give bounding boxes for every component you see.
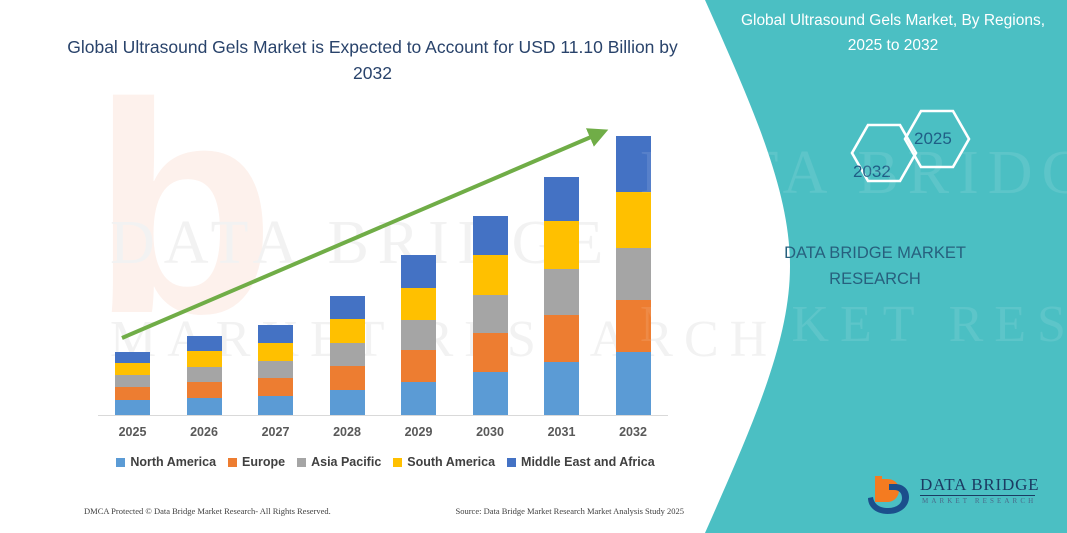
logo-mark-icon: [865, 472, 917, 518]
x-axis-label-2027: 2027: [241, 425, 311, 439]
legend-item[interactable]: Europe: [228, 455, 285, 469]
bar-segment: [473, 295, 508, 333]
bar-segment: [187, 367, 222, 382]
x-axis-label-2029: 2029: [384, 425, 454, 439]
bar-segment: [115, 363, 150, 375]
x-axis-label-2028: 2028: [312, 425, 382, 439]
logo-underline: [920, 495, 1035, 496]
bar-segment: [115, 400, 150, 415]
logo-text-main: DATA BRIDGE: [920, 475, 1039, 495]
bar-segment: [401, 288, 436, 320]
bar-segment: [187, 351, 222, 367]
legend-item[interactable]: South America: [393, 455, 495, 469]
legend-label: Middle East and Africa: [521, 455, 655, 469]
bar-2030[interactable]: [473, 216, 508, 415]
panel-watermark-line2: MARKET RESEARCH: [640, 285, 1067, 366]
bar-segment: [258, 325, 293, 343]
teal-panel-content: DATA BRIDGE MARKET RESEARCH Global Ultra…: [660, 0, 1067, 533]
panel-title: Global Ultrasound Gels Market, By Region…: [738, 8, 1048, 58]
bar-segment: [544, 315, 579, 362]
bar-segment: [187, 336, 222, 351]
bar-segment: [258, 378, 293, 396]
bar-segment: [258, 343, 293, 361]
chart-legend: North AmericaEuropeAsia PacificSouth Ame…: [98, 455, 673, 469]
x-axis-label-2030: 2030: [455, 425, 525, 439]
bar-segment: [544, 269, 579, 315]
bar-segment: [544, 221, 579, 269]
legend-label: North America: [130, 455, 216, 469]
bar-segment: [473, 333, 508, 372]
x-axis-label-2025: 2025: [98, 425, 168, 439]
page-title: Global Ultrasound Gels Market is Expecte…: [60, 34, 685, 86]
legend-label: South America: [407, 455, 495, 469]
bar-segment: [473, 372, 508, 415]
legend-swatch-icon: [507, 458, 516, 467]
bar-segment: [330, 343, 365, 366]
logo-text-sub: MARKET RESEARCH: [922, 497, 1036, 505]
legend-item[interactable]: Asia Pacific: [297, 455, 381, 469]
bar-segment: [401, 382, 436, 415]
bar-2029[interactable]: [401, 255, 436, 415]
infographic-root: b DATA BRIDGE MARKET RESEARCH Global Ult…: [0, 0, 1067, 533]
bar-segment: [401, 320, 436, 350]
bar-segment: [401, 255, 436, 288]
bar-segment: [330, 296, 365, 319]
bar-segment: [401, 350, 436, 382]
bar-segment: [544, 362, 579, 415]
bar-segment: [115, 387, 150, 400]
bar-segment: [258, 396, 293, 415]
legend-item[interactable]: Middle East and Africa: [507, 455, 655, 469]
bar-segment: [330, 390, 365, 415]
bar-segment: [473, 255, 508, 295]
x-axis-line: [98, 415, 668, 416]
bar-segment: [544, 177, 579, 221]
bar-segment: [330, 366, 365, 390]
footer-left-text: DMCA Protected © Data Bridge Market Rese…: [84, 506, 331, 516]
bar-2028[interactable]: [330, 296, 365, 415]
bar-segment: [187, 382, 222, 398]
legend-swatch-icon: [116, 458, 125, 467]
bar-segment: [115, 352, 150, 363]
x-axis-label-2031: 2031: [527, 425, 597, 439]
bar-segment: [473, 216, 508, 255]
legend-swatch-icon: [228, 458, 237, 467]
x-axis-label-2026: 2026: [169, 425, 239, 439]
legend-item[interactable]: North America: [116, 455, 216, 469]
company-logo: DATA BRIDGE MARKET RESEARCH: [865, 472, 1045, 520]
bar-segment: [187, 398, 222, 415]
footer-right-text: Source: Data Bridge Market Research Mark…: [455, 506, 684, 516]
bar-2026[interactable]: [187, 336, 222, 415]
bar-2025[interactable]: [115, 352, 150, 415]
legend-swatch-icon: [297, 458, 306, 467]
footer: DMCA Protected © Data Bridge Market Rese…: [84, 506, 684, 516]
legend-label: Europe: [242, 455, 285, 469]
panel-watermark-line1: DATA BRIDGE: [640, 125, 1067, 221]
bar-segment: [258, 361, 293, 378]
legend-label: Asia Pacific: [311, 455, 381, 469]
bar-2027[interactable]: [258, 325, 293, 415]
x-axis-label-2032: 2032: [598, 425, 668, 439]
bar-segment: [115, 375, 150, 387]
bar-segment: [330, 319, 365, 343]
legend-swatch-icon: [393, 458, 402, 467]
brand-line-1: DATA BRIDGE MARKET: [755, 240, 995, 266]
bar-2031[interactable]: [544, 177, 579, 415]
